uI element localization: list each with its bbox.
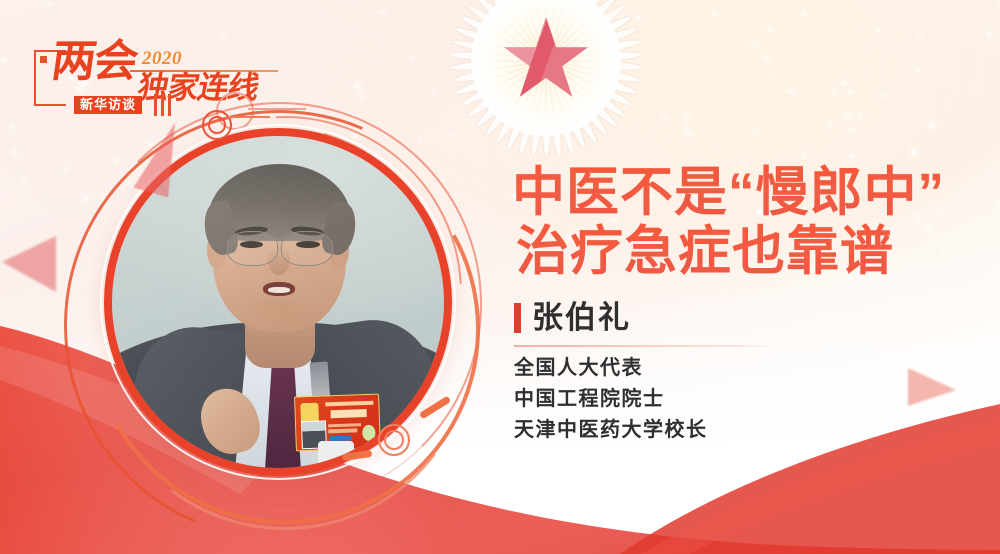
ceiling-light-dot — [801, 12, 805, 15]
ceiling-light-dot — [987, 32, 992, 36]
name-divider-rule — [514, 345, 776, 347]
ceiling-light-dot — [84, 197, 88, 200]
ceiling-light-dot — [918, 33, 923, 37]
ceiling-light-dot — [858, 116, 862, 119]
decor-ring-line-top — [228, 116, 270, 118]
ceiling-light-dot — [845, 114, 851, 118]
ceiling-light-dot — [994, 265, 1000, 269]
ceiling-light-dot — [788, 89, 793, 93]
credential-line: 天津中医药大学校长 — [514, 415, 708, 446]
sunburst-rosette-icon — [423, 0, 669, 156]
logo-year: 2020 — [142, 48, 182, 70]
decor-double-ring-bottom-icon — [378, 424, 410, 456]
ceiling-light-dot — [21, 178, 26, 182]
decor-double-ring-top-icon — [202, 110, 232, 140]
ceiling-light-dot — [11, 125, 15, 128]
ceiling-light-dot — [686, 133, 690, 136]
ceiling-light-dot — [767, 28, 772, 32]
ceiling-light-dot — [911, 150, 917, 155]
ceiling-light-dot — [829, 124, 832, 127]
ceiling-light-dot — [765, 55, 770, 59]
logo-badge: 新华访谈 — [74, 96, 142, 114]
decor-triangle-left-icon — [2, 236, 56, 292]
ceiling-light-dot — [841, 81, 846, 85]
ceiling-light-dot — [354, 84, 360, 89]
ceiling-light-dot — [683, 112, 689, 117]
ceiling-light-dot — [876, 29, 880, 32]
ceiling-light-dot — [929, 123, 935, 128]
poster-canvas: 2020 两会 独家连线 新华访谈 — [0, 0, 1000, 554]
credential-line: 中国工程院院士 — [514, 384, 708, 415]
ceiling-light-dot — [884, 94, 888, 97]
headline-block: 中医不是“慢郎中” 中医不是“慢郎中” 治疗急症也靠谱 治疗急症也靠谱 — [512, 163, 942, 282]
ceiling-light-dot — [48, 2, 53, 6]
speaker-name-row: 张伯礼 — [514, 302, 631, 333]
ceiling-light-dot — [752, 42, 757, 46]
logo-main-text: 两会 — [49, 40, 139, 84]
ceiling-light-dot — [685, 127, 689, 130]
ceiling-light-dot — [754, 130, 758, 133]
ceiling-light-dot — [12, 150, 18, 155]
decor-triangle-right-icon — [908, 368, 956, 406]
ceiling-light-dot — [848, 91, 852, 94]
credential-line: 全国人大代表 — [514, 353, 708, 384]
ceiling-light-dot — [770, 78, 773, 80]
name-accent-bar — [514, 303, 521, 333]
speaker-credentials: 全国人大代表中国工程院院士天津中医药大学校长 — [514, 353, 708, 446]
ceiling-light-dot — [849, 127, 854, 131]
logo-tick-marks — [154, 94, 176, 116]
ceiling-light-dot — [64, 168, 67, 171]
ceiling-light-dot — [850, 155, 855, 159]
headline-line1: 中医不是“慢郎中” — [512, 163, 942, 222]
ceiling-light-dot — [916, 69, 920, 72]
ceiling-light-dot — [381, 10, 385, 13]
ceiling-light-dot — [1, 58, 6, 62]
ceiling-light-dot — [972, 231, 975, 234]
ceiling-light-dot — [358, 94, 363, 98]
headline-line2: 治疗急症也靠谱 — [516, 222, 942, 281]
ceiling-light-dot — [410, 56, 414, 59]
ceiling-light-dot — [712, 13, 715, 15]
ceiling-light-dot — [801, 153, 806, 157]
speaker-name: 张伯礼 — [532, 302, 631, 333]
ceiling-light-dot — [832, 89, 837, 93]
